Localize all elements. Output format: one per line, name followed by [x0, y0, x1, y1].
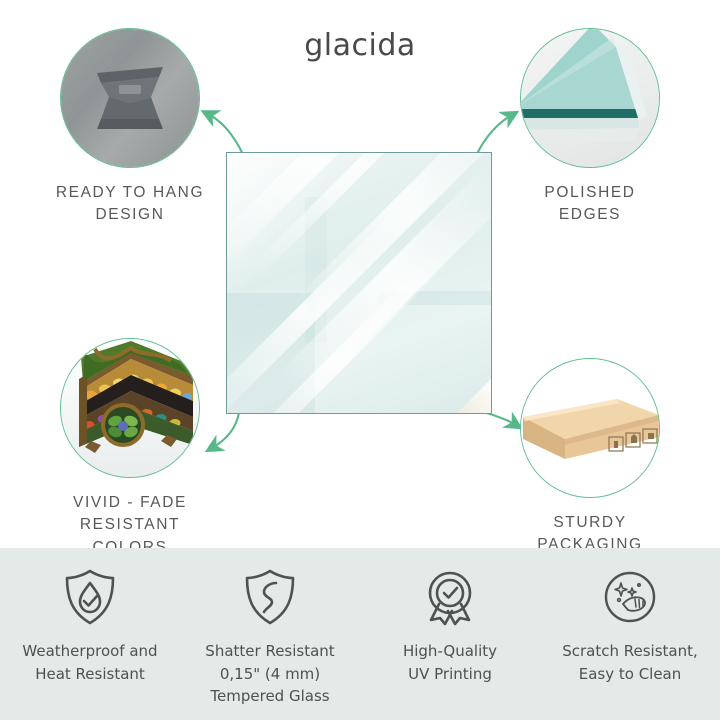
- spec-line: Weatherproof and: [22, 642, 157, 660]
- feature-label-polished-edges: POLISHED EDGES: [490, 182, 690, 227]
- feature-label-line1: STURDY: [553, 514, 626, 531]
- spec-line: Shatter Resistant: [205, 642, 334, 660]
- spec-label-uv-printing: High-Quality UV Printing: [360, 640, 540, 685]
- spec-line: Tempered Glass: [210, 687, 329, 705]
- feature-label-ready-to-hang: READY TO HANG DESIGN: [30, 182, 230, 227]
- feature-label-line1: VIVID - FADE RESISTANT: [73, 494, 187, 533]
- feature-sturdy-packaging: STURDY PACKAGING: [490, 358, 690, 557]
- feature-ready-to-hang: READY TO HANG DESIGN: [30, 28, 230, 227]
- feature-image-wrap-vivid-colors: [60, 338, 200, 478]
- feature-label-line2: EDGES: [559, 206, 621, 223]
- glass-shade-center: [305, 197, 327, 343]
- spec-line: Easy to Clean: [579, 665, 682, 683]
- glass-panel: [226, 152, 492, 414]
- feature-image-wrap-sturdy-packaging: [520, 358, 660, 498]
- feature-circle-sturdy-packaging: [520, 358, 660, 498]
- feature-circle-vivid-colors: [60, 338, 200, 478]
- feature-label-line1: READY TO HANG: [56, 184, 204, 201]
- cardboard-box-photo: [521, 359, 659, 497]
- feature-label-line1: POLISHED: [544, 184, 635, 201]
- spec-label-weatherproof: Weatherproof and Heat Resistant: [0, 640, 180, 685]
- spec-line: 0,15" (4 mm): [220, 665, 320, 683]
- feature-image-wrap-ready-to-hang: [60, 28, 200, 168]
- glass-streak-1: [226, 152, 432, 271]
- infographic-page: glacida: [0, 0, 720, 720]
- spec-uv-printing: High-Quality UV Printing: [360, 566, 540, 685]
- glass-streak-6: [226, 250, 449, 414]
- spec-band: Weatherproof and Heat Resistant Shatter …: [0, 548, 720, 720]
- shield-water-drop-check-icon: [0, 566, 180, 628]
- polished-glass-edge-photo: [521, 29, 659, 167]
- award-ribbon-check-icon: [360, 566, 540, 628]
- spec-line: Scratch Resistant,: [562, 642, 698, 660]
- feature-circle-ready-to-hang: [60, 28, 200, 168]
- spec-line: UV Printing: [408, 665, 492, 683]
- glass-streak-3: [290, 152, 492, 325]
- feature-label-line2: DESIGN: [95, 206, 164, 223]
- shield-lightning-bolt-icon: [180, 566, 360, 628]
- sparkle-cleaning-hand-icon: [540, 566, 720, 628]
- feature-polished-edges: POLISHED EDGES: [490, 28, 690, 227]
- feature-vivid-colors: VIVID - FADE RESISTANT COLORS: [30, 338, 230, 559]
- glass-shade-left: [227, 293, 315, 414]
- peeling-corner: [456, 378, 492, 414]
- feature-image-wrap-polished-edges: [520, 28, 660, 168]
- glass-streak-2: [246, 152, 468, 281]
- glass-shade-right: [379, 291, 492, 305]
- spec-label-shatter-resistant: Shatter Resistant 0,15" (4 mm) Tempered …: [180, 640, 360, 708]
- feature-circle-polished-edges: [520, 28, 660, 168]
- spec-line: High-Quality: [403, 642, 497, 660]
- spec-line: Heat Resistant: [35, 665, 145, 683]
- stained-glass-artwork-photo: [61, 339, 199, 477]
- spec-scratch-resistant: Scratch Resistant, Easy to Clean: [540, 566, 720, 685]
- hanging-bracket-photo: [61, 29, 199, 167]
- glass-streak-4: [270, 156, 492, 411]
- spec-weatherproof: Weatherproof and Heat Resistant: [0, 566, 180, 685]
- spec-label-scratch-resistant: Scratch Resistant, Easy to Clean: [540, 640, 720, 685]
- glass-streak-5: [226, 200, 421, 414]
- spec-shatter-resistant: Shatter Resistant 0,15" (4 mm) Tempered …: [180, 566, 360, 708]
